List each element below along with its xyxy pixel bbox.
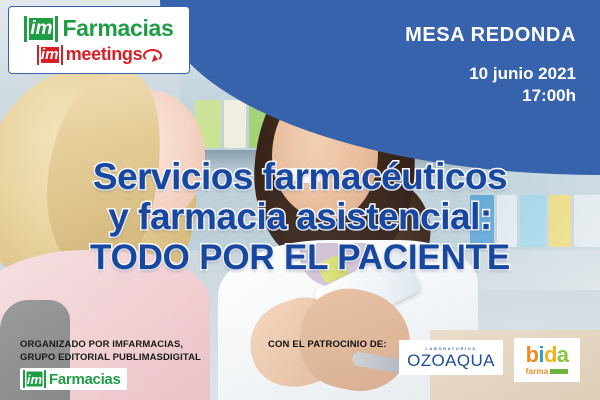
event-time: 17:00h xyxy=(522,86,576,106)
speech-bubble-tail-icon xyxy=(145,47,161,63)
organizer-logo-wordmark: Farmacias xyxy=(49,371,121,388)
event-type-label: MESA REDONDA xyxy=(405,24,576,47)
main-title: Servicios farmacéuticos y farmacia asist… xyxy=(0,158,600,276)
promo-banner: im Farmacias im meetings MESA REDONDA 10… xyxy=(0,0,600,400)
sponsors-label: CON EL PATROCINIO DE: xyxy=(268,339,387,350)
bidafarma-letter-b: b xyxy=(526,342,539,367)
im-bracket-mark-icon: im xyxy=(24,16,58,42)
bidafarma-subtitle-row: farma xyxy=(526,367,569,376)
title-line-2: y farmacia asistencial: xyxy=(0,198,600,236)
im-bracket-mark-red-icon: im xyxy=(37,45,63,65)
imfarmacias-wordmark: Farmacias xyxy=(62,15,173,42)
sponsor-logo-bidafarma: bida farma xyxy=(514,338,580,382)
event-date: 10 junio 2021 xyxy=(469,64,576,84)
bidafarma-subtitle: farma xyxy=(526,367,549,376)
organizer-line-2: GRUPO EDITORIAL PUBLIMASDIGITAL xyxy=(20,351,201,364)
organizer-line-1: ORGANIZADO POR IMFARMACIAS, xyxy=(20,338,201,351)
organizer-text: ORGANIZADO POR IMFARMACIAS, GRUPO EDITOR… xyxy=(20,338,201,364)
imfarmacias-logo: im Farmacias xyxy=(24,15,173,42)
bidafarma-letter-a: a xyxy=(557,342,569,367)
bidafarma-green-bar-icon xyxy=(550,369,568,374)
immeetings-logo: im meetings xyxy=(37,44,162,65)
im-bracket-mark-small-icon: im xyxy=(23,370,46,388)
bidafarma-wordmark: bida xyxy=(526,344,569,366)
sponsor-logo-ozoaqua: LABORATORIOS OZOAQUA xyxy=(399,340,503,375)
organizer-logo: im Farmacias xyxy=(20,368,127,390)
bidafarma-letter-d: d xyxy=(544,342,557,367)
imfarmacias-logo-card: im Farmacias im meetings xyxy=(8,6,190,74)
title-line-1: Servicios farmacéuticos xyxy=(0,158,600,196)
title-line-3: TODO POR EL PACIENTE xyxy=(0,240,600,276)
immeetings-wordmark: meetings xyxy=(66,44,143,65)
ozoaqua-wordmark: OZOAQUA xyxy=(407,352,495,369)
